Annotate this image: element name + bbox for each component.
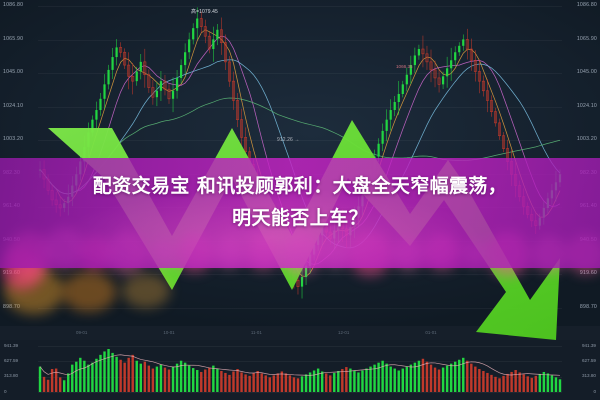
low-annotation: 912.26 →: [277, 137, 299, 143]
page-title: 配资交易宝 和讯投顾郭利：大盘全天窄幅震荡， 明天能否上车？: [28, 170, 572, 234]
bokeh-light: [122, 274, 170, 308]
title-line-1: 配资交易宝 和讯投顾郭利：大盘全天窄幅震荡，: [28, 170, 572, 202]
bokeh-light: [62, 272, 116, 312]
stock-chart-banner: 1086.801065.901045.001024.101003.20982.3…: [0, 0, 600, 400]
title-line-2: 明天能否上车？: [28, 202, 572, 234]
